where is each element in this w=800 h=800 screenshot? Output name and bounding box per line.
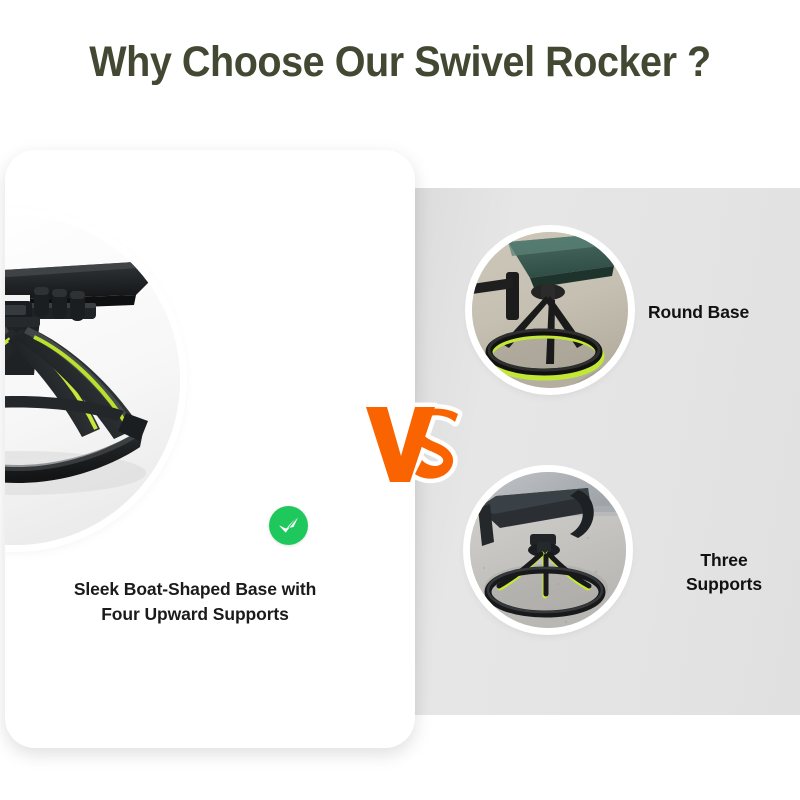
- hero-caption-line2: Four Upward Supports: [101, 604, 289, 624]
- label-round-base: Round Base: [648, 300, 798, 324]
- three-supports-photo-illustration: [470, 472, 626, 628]
- label-three-supports-line2: Supports: [650, 572, 798, 596]
- check-mark-glyph: [269, 506, 308, 545]
- infographic-canvas: Why Choose Our Swivel Rocker ?: [0, 0, 800, 800]
- photo-round-base: [472, 232, 628, 388]
- preferred-product-card: Sleek Boat-Shaped Base with Four Upward …: [5, 150, 415, 748]
- boat-shaped-base-illustration: [5, 215, 180, 545]
- label-three-supports-line1: Three: [650, 548, 798, 572]
- page-title: Why Choose Our Swivel Rocker ?: [32, 36, 768, 88]
- label-round-base-line1: Round Base: [648, 300, 798, 324]
- round-base-photo-illustration: [472, 232, 628, 388]
- photo-three-supports: [470, 472, 626, 628]
- label-three-supports: Three Supports: [650, 548, 798, 596]
- check-circle-icon: [269, 506, 308, 545]
- hero-caption-line1: Sleek Boat-Shaped Base with: [74, 579, 316, 599]
- hero-caption: Sleek Boat-Shaped Base with Four Upward …: [5, 577, 385, 627]
- hero-product-circle: [5, 215, 180, 545]
